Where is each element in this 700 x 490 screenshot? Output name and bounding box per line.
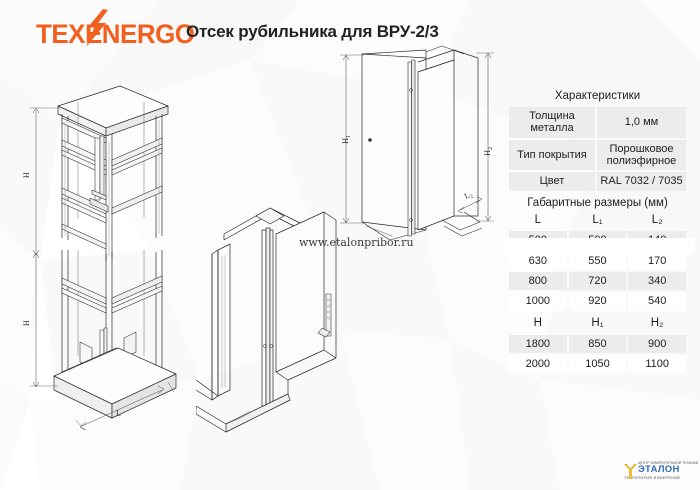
cell-h2: 1100 [628, 355, 686, 373]
cell-l2: 340 [628, 272, 686, 290]
spec-label-color: Цвет [509, 172, 595, 190]
col-header-h1: H₁ [569, 313, 627, 333]
table-header-row-l: L L₁ L₂ [509, 210, 686, 230]
table-row: Цвет RAL 7032 / 7035 [509, 172, 686, 190]
svg-text:H: H [22, 320, 31, 326]
col-header-l: L [509, 210, 567, 230]
cell-h: 2000 [509, 355, 567, 373]
col-header-l1: L₁ [569, 210, 627, 230]
etalon-wordmark: ЭТАЛОН [638, 465, 698, 475]
page-header: TEXENERGO Отсек рубильника для ВРУ-2/3 [0, 0, 700, 58]
col-header-l2: L₂ [628, 210, 686, 230]
table-header-row-h: H H₁ H₂ [509, 313, 686, 333]
cell-l1: 920 [569, 292, 627, 310]
svg-text:L2: L2 [463, 189, 475, 202]
cabinet-frame-with-base-drawing: H L [16, 250, 211, 435]
characteristics-title: Характеристики [509, 88, 686, 107]
col-header-h2: H₂ [628, 313, 686, 333]
table-row: Толщина металла 1,0 мм [509, 107, 686, 138]
dimensions-title: Габаритные размеры (мм) [509, 191, 686, 210]
spec-label-coating: Тип покрытия [509, 140, 595, 171]
cell-l: 1000 [509, 292, 567, 310]
watermark-url: www.etalonpribor.ru [299, 236, 414, 249]
spec-value-coating: Порошковое полиэфирное [597, 140, 686, 171]
svg-text:H1: H1 [340, 135, 352, 144]
cell-l: 800 [509, 272, 567, 290]
cell-h1: 1050 [569, 355, 627, 373]
col-header-h: H [509, 313, 567, 333]
specification-table: Характеристики Толщина металла 1,0 мм Ти… [509, 88, 686, 373]
page-title: Отсек рубильника для ВРУ-2/3 [186, 22, 439, 42]
cell-h: 1800 [509, 335, 567, 353]
spec-label-thickness: Толщина металла [509, 107, 595, 138]
svg-text:L: L [116, 409, 121, 418]
table-row: 1800 850 900 [509, 335, 686, 353]
cell-l2: 540 [628, 292, 686, 310]
spec-value-color: RAL 7032 / 7035 [597, 172, 686, 190]
svg-text:H2: H2 [482, 147, 494, 156]
table-row: 1000 920 540 [509, 292, 686, 310]
svg-text:H: H [22, 172, 31, 178]
door-assembly-dimensioned-drawing: H1 H2 L2 [330, 44, 502, 244]
cell-h1: 850 [569, 335, 627, 353]
table-row: 2000 1050 1100 [509, 355, 686, 373]
spec-value-thickness: 1,0 мм [597, 107, 686, 138]
row-occluder-band [503, 238, 695, 255]
cell-h2: 900 [628, 335, 686, 353]
table-row: 800 720 340 [509, 272, 686, 290]
texenergo-logo: TEXENERGO [36, 19, 194, 50]
cabinet-frame-isometric-top-drawing: H [16, 78, 206, 263]
etalon-logo: ЦЕНТР ИЗМЕРИТЕЛЬНОЙ ТЕХНИКИ ЭТАЛОН ТЕРРИ… [624, 461, 698, 480]
table-row: Тип покрытия Порошковое полиэфирное [509, 140, 686, 171]
cell-l1: 720 [569, 272, 627, 290]
etalon-mark-icon [624, 464, 637, 479]
